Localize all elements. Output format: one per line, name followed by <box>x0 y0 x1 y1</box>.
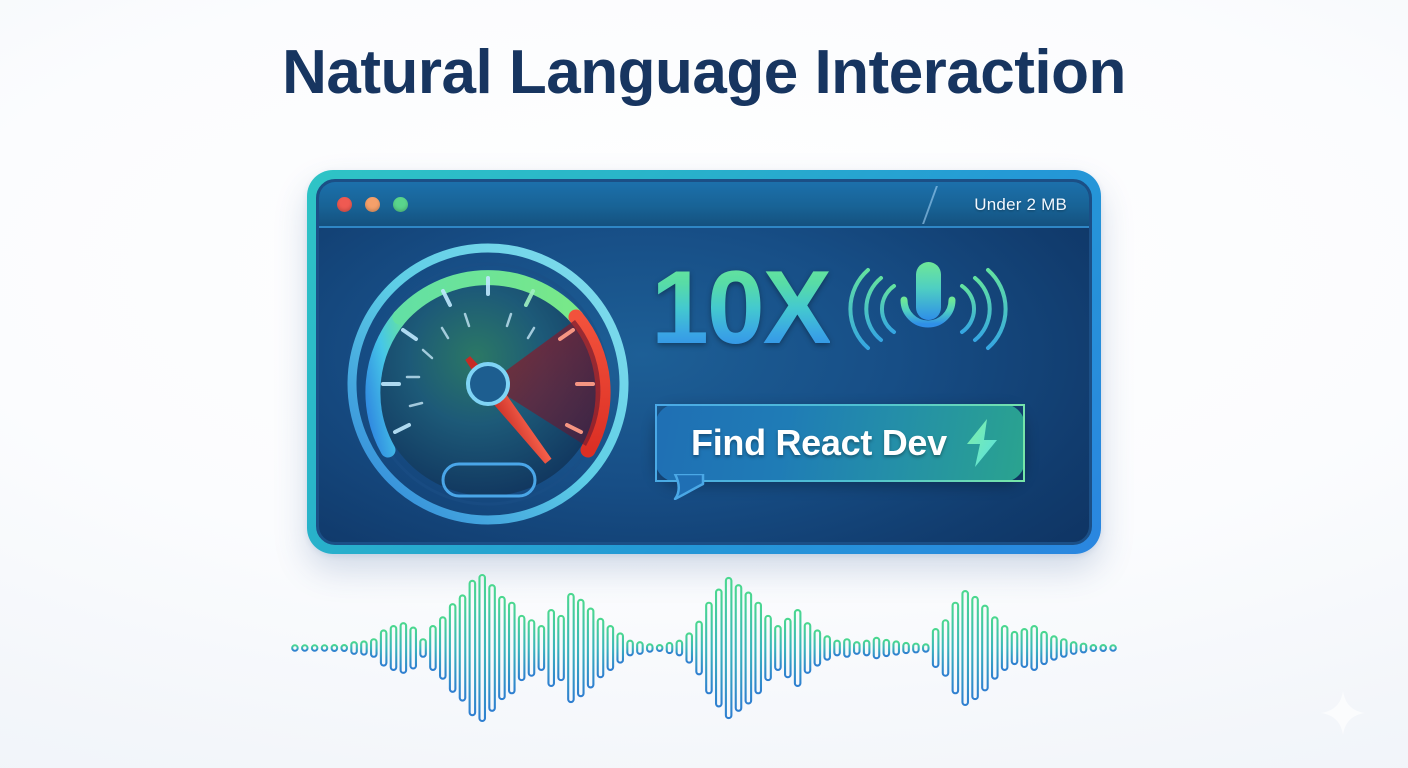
waveform-bar <box>706 603 712 694</box>
waveform-bar <box>1022 629 1028 667</box>
waveform-bar <box>519 616 525 680</box>
window-titlebar: Under 2 MB <box>319 182 1089 228</box>
voice-command-bubble[interactable]: Find React Dev <box>655 404 1025 482</box>
waveform-bar <box>943 620 949 675</box>
waveform-bar <box>765 616 771 680</box>
waveform-bar <box>893 641 899 654</box>
waveform-bar <box>647 644 653 651</box>
waveform-bar <box>864 641 870 656</box>
waveform-bar <box>401 623 407 673</box>
waveform-bar <box>292 645 298 651</box>
waveform-bar <box>736 585 742 711</box>
speed-multiplier-value: 10X <box>651 256 830 360</box>
audio-waveform <box>290 568 1118 728</box>
waveform-bar <box>568 594 574 702</box>
waveform-bar <box>509 603 515 694</box>
waveform-bar <box>953 603 959 694</box>
waveform-bar <box>1002 626 1008 670</box>
waveform-bar <box>470 581 476 715</box>
waveform-bar <box>499 597 505 699</box>
bubble-tail <box>673 474 707 500</box>
waveform-bar <box>696 622 702 675</box>
waveform-bar <box>992 617 998 678</box>
lightning-bolt-icon <box>963 417 1003 469</box>
waveform-bar <box>795 610 801 686</box>
waveform-bar <box>1071 642 1077 654</box>
waveform-bar <box>785 619 791 677</box>
waveform-bar <box>716 590 722 707</box>
waveform-bar <box>726 578 732 718</box>
browser-window-frame: Under 2 MB <box>307 170 1101 554</box>
waveform-bar <box>667 643 673 653</box>
waveform-bar <box>1041 632 1047 664</box>
waveform-bar <box>972 597 978 699</box>
waveform-bar <box>391 626 397 670</box>
minimize-dot-icon[interactable] <box>365 197 380 212</box>
waveform-bar <box>884 640 890 656</box>
waveform-bar <box>617 633 623 662</box>
waveform-bar <box>341 645 347 651</box>
waveform-bar <box>440 617 446 678</box>
waveform-bar <box>755 603 761 694</box>
voice-command-text: Find React Dev <box>691 422 947 464</box>
waveform-bar <box>420 639 426 657</box>
waveform-bar <box>775 626 781 670</box>
traffic-light-dots <box>337 197 408 212</box>
waveform-bar <box>824 636 830 659</box>
waveform-bar <box>430 626 436 670</box>
waveform-bar <box>982 606 988 691</box>
waveform-bar <box>815 630 821 665</box>
waveform-bar <box>834 641 840 656</box>
waveform-bar <box>361 641 367 654</box>
waveform-bar <box>479 575 485 721</box>
waveform-bar <box>637 642 643 654</box>
waveform-bar <box>322 645 328 651</box>
waveform-bar <box>874 638 880 658</box>
close-dot-icon[interactable] <box>337 197 352 212</box>
maximize-dot-icon[interactable] <box>393 197 408 212</box>
waveform-bar <box>1031 626 1037 670</box>
window-content: 10X <box>319 228 1089 542</box>
waveform-bar <box>460 595 466 700</box>
waveform-bar <box>746 593 752 704</box>
waveform-bar <box>312 645 318 651</box>
waveform-bar <box>1100 645 1106 651</box>
waveform-bar <box>1110 645 1116 651</box>
waveform-bar <box>351 642 357 654</box>
waveform-bar <box>1012 632 1018 664</box>
waveform-bar <box>381 630 387 665</box>
waveform-bar <box>489 585 495 711</box>
waveform-bar <box>450 604 456 692</box>
badge-divider <box>922 186 938 224</box>
waveform-bar <box>539 626 545 670</box>
waveform-bar <box>677 641 683 656</box>
browser-window-panel: Under 2 MB <box>316 179 1092 545</box>
waveform-bar <box>410 628 416 669</box>
microphone-icon[interactable] <box>848 250 1008 370</box>
waveform-bar <box>588 609 594 688</box>
waveform-bar <box>578 600 584 696</box>
waveform-bar <box>558 616 564 680</box>
waveform-bar <box>854 642 860 654</box>
waveform-bar <box>332 645 338 651</box>
waveform-bar <box>686 633 692 662</box>
waveform-bar <box>844 639 850 657</box>
waveform-bar <box>1051 636 1057 659</box>
waveform-bar <box>371 639 377 657</box>
waveform-bar <box>805 623 811 673</box>
waveform-bar <box>1061 639 1067 657</box>
page-title: Natural Language Interaction <box>0 40 1408 105</box>
waveform-bar <box>962 591 968 705</box>
waveform-bar <box>913 644 919 653</box>
waveform-bar <box>548 610 554 686</box>
waveform-bar <box>1081 644 1087 653</box>
waveform-bar <box>1091 645 1097 651</box>
waveform-bar <box>598 619 604 677</box>
right-column: 10X <box>649 238 1073 528</box>
waveform-bar <box>933 629 939 667</box>
waveform-bar <box>657 645 663 651</box>
waveform-bar <box>923 644 929 651</box>
headline-row: 10X <box>651 246 1008 370</box>
waveform-bar <box>529 620 535 675</box>
waveform-bar <box>608 626 614 670</box>
waveform-bar <box>302 645 308 651</box>
sparkle-icon <box>1320 690 1366 736</box>
speedometer-icon <box>343 234 633 534</box>
waveform-bar <box>627 641 633 656</box>
waveform-bar <box>903 643 909 653</box>
size-badge: Under 2 MB <box>948 182 1073 228</box>
